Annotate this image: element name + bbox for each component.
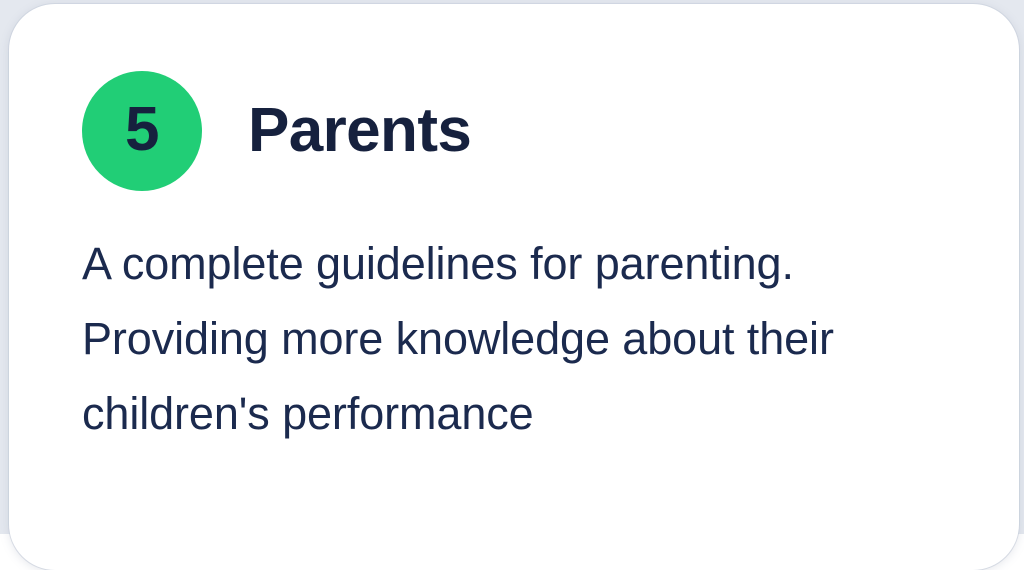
description-line: children's performance: [82, 376, 962, 451]
description-line: Providing more knowledge about their: [82, 301, 962, 376]
description-line: A complete guidelines for parenting.: [82, 226, 962, 301]
card-description: A complete guidelines for parenting. Pro…: [82, 226, 962, 451]
card-title: Parents: [248, 100, 471, 162]
card-content: 5 Parents A complete guidelines for pare…: [9, 4, 1019, 570]
parents-feature-card[interactable]: 5 Parents A complete guidelines for pare…: [9, 4, 1019, 570]
step-number-label: 5: [125, 99, 159, 161]
screenshot-stage: 5 Parents A complete guidelines for pare…: [0, 0, 1024, 534]
card-header: 5 Parents: [82, 58, 471, 203]
step-number-badge: 5: [82, 71, 202, 191]
